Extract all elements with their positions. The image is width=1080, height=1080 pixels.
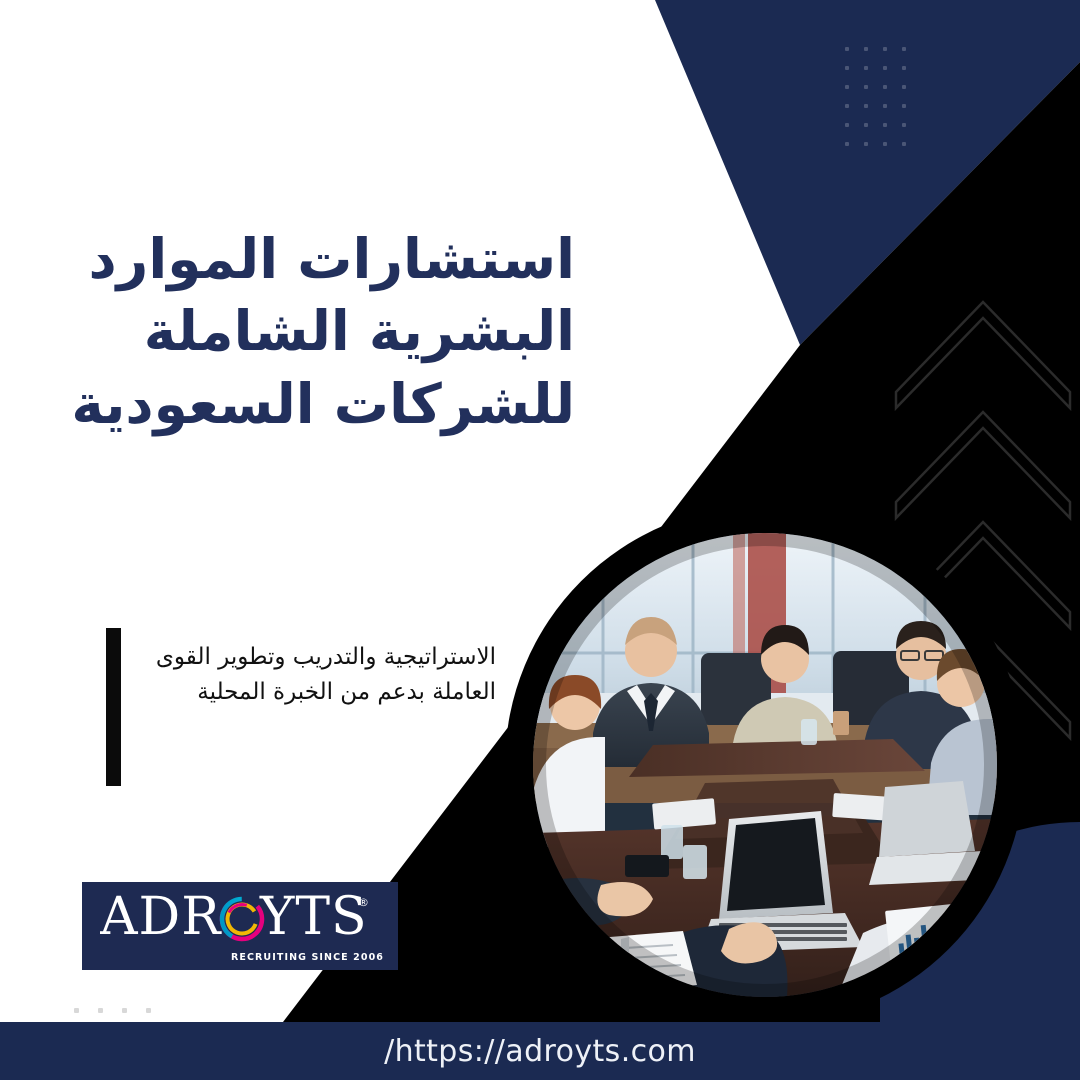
mini-dot (74, 1008, 79, 1013)
grid-dot (845, 85, 849, 89)
grid-dot (902, 66, 906, 70)
logo-tagline: RECRUITING SINCE 2006 (231, 952, 384, 963)
grid-dot (883, 47, 887, 51)
subtitle-text: الاستراتيجية والتدريب وتطوير القوى العام… (129, 628, 496, 710)
website-url[interactable]: /https://adroyts.com (384, 1034, 696, 1069)
accent-bar (106, 628, 121, 786)
grid-dot (883, 66, 887, 70)
grid-dot (883, 104, 887, 108)
meeting-photo (533, 533, 997, 997)
grid-dot (845, 123, 849, 127)
mini-dot-row (74, 1008, 151, 1013)
grid-dot (883, 85, 887, 89)
svg-text:YTS: YTS (259, 888, 368, 946)
grid-dot (864, 123, 868, 127)
poster-canvas: استشارات الموارد البشرية الشاملة للشركات… (0, 0, 1080, 1080)
chevron-icon (896, 302, 1070, 408)
grid-dot (902, 142, 906, 146)
footer-bar: /https://adroyts.com (0, 1022, 1080, 1080)
grid-dot (845, 142, 849, 146)
grid-dot (864, 47, 868, 51)
grid-dot (902, 85, 906, 89)
grid-dot (845, 47, 849, 51)
subtitle-block: الاستراتيجية والتدريب وتطوير القوى العام… (106, 628, 496, 786)
grid-dot (864, 66, 868, 70)
logo-wordmark-graphic: ADR YTS ® (100, 888, 380, 946)
mini-dot (122, 1008, 127, 1013)
grid-dot (864, 104, 868, 108)
grid-dot (902, 123, 906, 127)
svg-text:ADR: ADR (100, 888, 222, 946)
grid-dot (845, 66, 849, 70)
mini-dot (146, 1008, 151, 1013)
grid-dot (902, 47, 906, 51)
mini-dot (98, 1008, 103, 1013)
grid-dot (845, 104, 849, 108)
grid-dot (864, 85, 868, 89)
chevron-icon (896, 412, 1070, 518)
grid-dot (883, 123, 887, 127)
page-headline: استشارات الموارد البشرية الشاملة للشركات… (15, 223, 575, 441)
grid-dot (883, 142, 887, 146)
brand-logo[interactable]: ADR YTS ® RECRUITING SINCE 2006 (82, 882, 398, 970)
dot-grid-pattern (845, 47, 921, 161)
grid-dot (864, 142, 868, 146)
grid-dot (902, 104, 906, 108)
svg-text:®: ® (358, 896, 369, 909)
